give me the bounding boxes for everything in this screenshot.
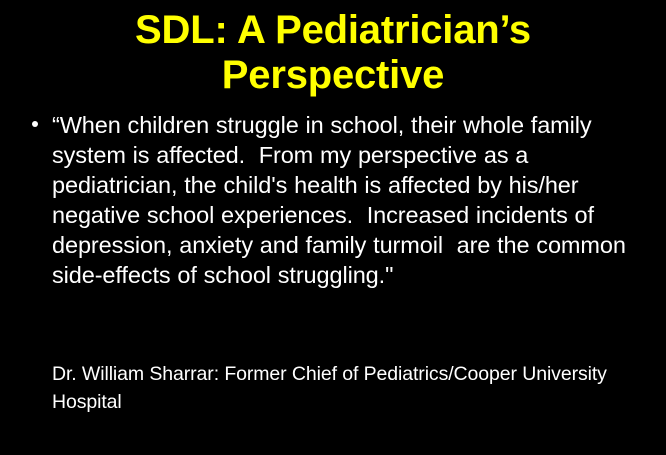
slide-body: “When children struggle in school, their…: [30, 110, 630, 290]
presentation-slide: SDL: A Pediatrician’s Perspective “When …: [0, 0, 666, 455]
attribution-text: Dr. William Sharrar: Former Chief of Ped…: [52, 360, 632, 416]
quote-text: “When children struggle in school, their…: [52, 112, 633, 288]
list-item: “When children struggle in school, their…: [30, 110, 630, 290]
bullet-dot-icon: [32, 121, 38, 127]
slide-title: SDL: A Pediatrician’s Perspective: [0, 8, 666, 98]
